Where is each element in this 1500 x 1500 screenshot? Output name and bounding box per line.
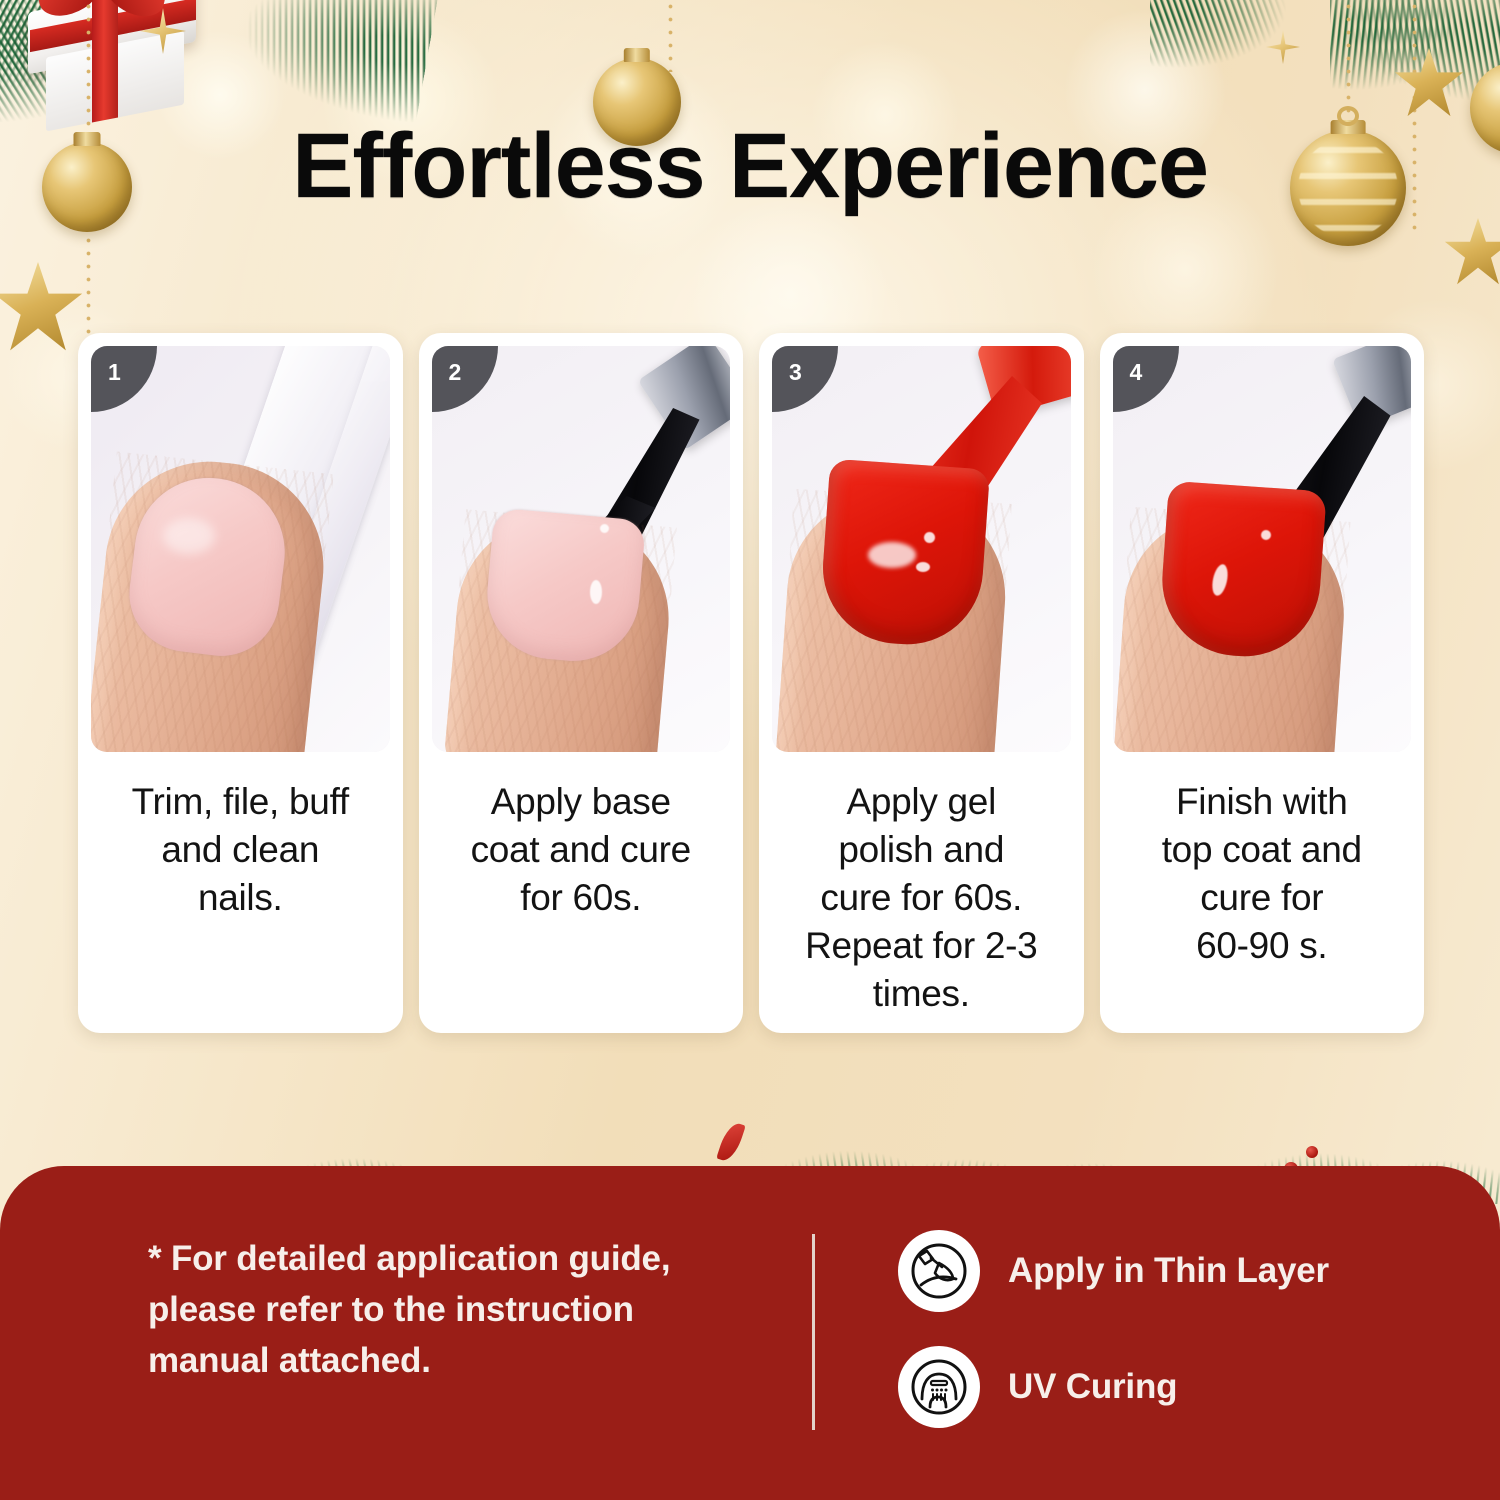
nail-highlight <box>590 580 602 604</box>
pine-branch-icon <box>1150 0 1370 68</box>
gold-star-icon <box>0 262 86 358</box>
gold-star-icon <box>1442 218 1500 290</box>
bead-string <box>668 0 673 72</box>
nail-highlight <box>924 532 935 543</box>
pine-branch-icon <box>0 0 276 125</box>
thin-layer-brush-icon <box>898 1230 980 1312</box>
red-leaf-icon <box>716 1120 745 1164</box>
step-4-photo <box>1113 346 1412 752</box>
nail-highlight <box>600 524 609 533</box>
step-card-4[interactable]: 4 Finish with top coat and cure for 60-9… <box>1100 333 1425 1033</box>
step-caption-4: Finish with top coat and cure for 60-90 … <box>1100 752 1425 1033</box>
step-caption-3: Apply gel polish and cure for 60s. Repea… <box>759 752 1084 1033</box>
step-caption-1: Trim, file, buff and clean nails. <box>78 752 403 1033</box>
banner-divider <box>812 1234 815 1430</box>
step-4-thumbnail: 4 <box>1113 346 1412 752</box>
banner-note-text: * For detailed application guide, please… <box>148 1234 748 1386</box>
feature-uv-curing: UV Curing <box>898 1346 1329 1428</box>
feature-label-thin-layer: Apply in Thin Layer <box>1008 1251 1329 1291</box>
bead-string <box>1346 0 1351 118</box>
step-2-photo <box>432 346 731 752</box>
nail-highlight <box>1261 530 1271 540</box>
step-card-2[interactable]: 2 Apply base coat and cure for 60s. <box>419 333 744 1033</box>
step-2-thumbnail: 2 <box>432 346 731 752</box>
step-3-thumbnail: 3 <box>772 346 1071 752</box>
nail-highlight <box>868 542 916 568</box>
feature-label-uv-curing: UV Curing <box>1008 1367 1177 1407</box>
gift-box-icon <box>28 0 198 126</box>
step-3-photo <box>772 346 1071 752</box>
step-card-3[interactable]: 3 Apply gel polish and cure for 60s. Rep… <box>759 333 1084 1033</box>
step-caption-2: Apply base coat and cure for 60s. <box>419 752 744 1033</box>
pine-branch-icon <box>1222 0 1500 105</box>
sparkle-icon <box>140 8 186 54</box>
pine-branch-icon <box>1330 0 1500 90</box>
feature-thin-layer: Apply in Thin Layer <box>898 1230 1329 1312</box>
info-banner: * For detailed application guide, please… <box>0 1166 1500 1500</box>
pine-branch-icon <box>120 0 440 125</box>
uv-lamp-curing-icon <box>898 1346 980 1428</box>
step-card-1[interactable]: 1 Trim, file, buff and clean nails. <box>78 333 403 1033</box>
feature-list: Apply in Thin Layer <box>898 1230 1329 1428</box>
sparkle-icon <box>1266 30 1300 64</box>
nail-highlight <box>163 518 215 554</box>
page-title: Effortless Experience <box>0 118 1500 215</box>
red-berry-icon <box>1306 1146 1318 1158</box>
poster-canvas: Effortless Experience 1 Trim, file, buff… <box>0 0 1500 1500</box>
step-1-thumbnail: 1 <box>91 346 390 752</box>
pine-branch-icon <box>0 0 210 90</box>
gold-star-icon <box>1392 48 1466 122</box>
step-1-photo <box>91 346 390 752</box>
nail-highlight <box>916 562 930 572</box>
steps-card-row: 1 Trim, file, buff and clean nails. 2 <box>78 333 1424 1033</box>
